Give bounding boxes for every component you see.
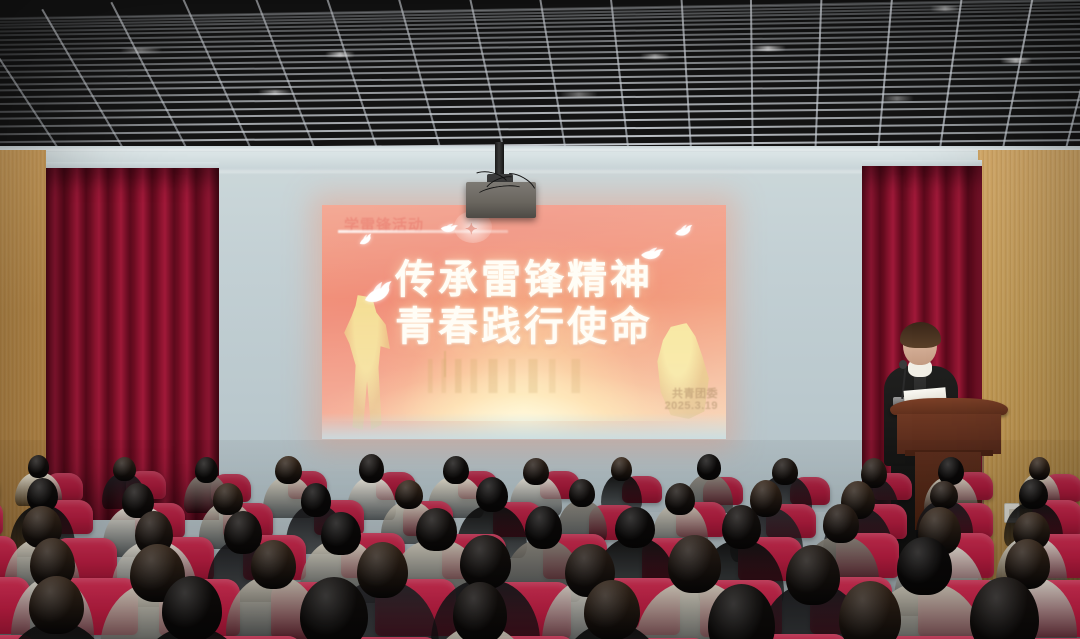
slide-bottom-fade: [322, 413, 726, 439]
audience-member-head: [275, 456, 302, 484]
audience-member-head: [460, 535, 511, 589]
audience-member-head: [395, 480, 423, 509]
ceiling-lamp: [560, 92, 598, 97]
ceiling-lamp: [325, 52, 355, 57]
ceiling-rib: [867, 0, 896, 152]
audience-member-head: [113, 457, 136, 481]
audience-member-head: [443, 456, 469, 484]
audience-member-head: [301, 483, 331, 516]
audience-member-head: [251, 540, 296, 589]
audience-member-head: [359, 454, 384, 483]
grid-ceiling: [0, 0, 1080, 152]
audience-member-head: [897, 537, 952, 595]
audience-member-head: [321, 512, 360, 555]
audience-member-head: [523, 458, 549, 485]
ceiling-lamp: [120, 48, 162, 53]
microphone-head-icon: [899, 360, 907, 369]
ceiling-lamp: [880, 96, 914, 101]
ceiling-lamp: [640, 54, 670, 59]
ceiling-lamp: [258, 90, 292, 95]
auditorium-photo: 学雷锋活动 ✦ 传承雷锋精神 青春践行使命 共青团委 2025.3.19: [0, 0, 1080, 639]
audience-member-head: [722, 505, 761, 550]
ceiling-lamp: [930, 6, 960, 11]
ceiling-lamp: [750, 46, 786, 51]
audience-member-head: [823, 504, 860, 543]
audience-member-head: [772, 458, 798, 485]
audience-member-head: [930, 481, 958, 509]
audience-member-head: [611, 457, 633, 481]
audience-member-head: [525, 506, 562, 548]
audience-member-head: [569, 479, 596, 507]
ceiling-lamp: [1000, 58, 1032, 63]
audience-member-head: [476, 477, 508, 512]
slide-light-wash: [322, 205, 726, 439]
audience-member-head: [1029, 457, 1050, 481]
audience-member-head: [668, 535, 721, 592]
audience-area: [0, 440, 1080, 639]
projection-screen: 学雷锋活动 ✦ 传承雷锋精神 青春践行使命 共青团委 2025.3.19: [322, 205, 726, 439]
ceiling-band: [0, 105, 1080, 120]
audience-member-head: [195, 457, 218, 483]
audience-member-head: [213, 483, 243, 514]
audience-member-head: [615, 507, 655, 548]
audience-member-head: [665, 483, 695, 515]
podium-top: [890, 398, 1008, 415]
audience-member-head: [29, 576, 83, 634]
auditorium-seat[interactable]: [0, 500, 3, 535]
audience-member-head: [162, 576, 222, 639]
ceiling-rib: [923, 0, 967, 152]
audience-member-head: [28, 455, 49, 478]
audience-member-head: [697, 454, 722, 480]
curtain-track: [180, 170, 880, 173]
audience-member-head: [1019, 479, 1048, 509]
audience-member-head: [584, 580, 641, 639]
